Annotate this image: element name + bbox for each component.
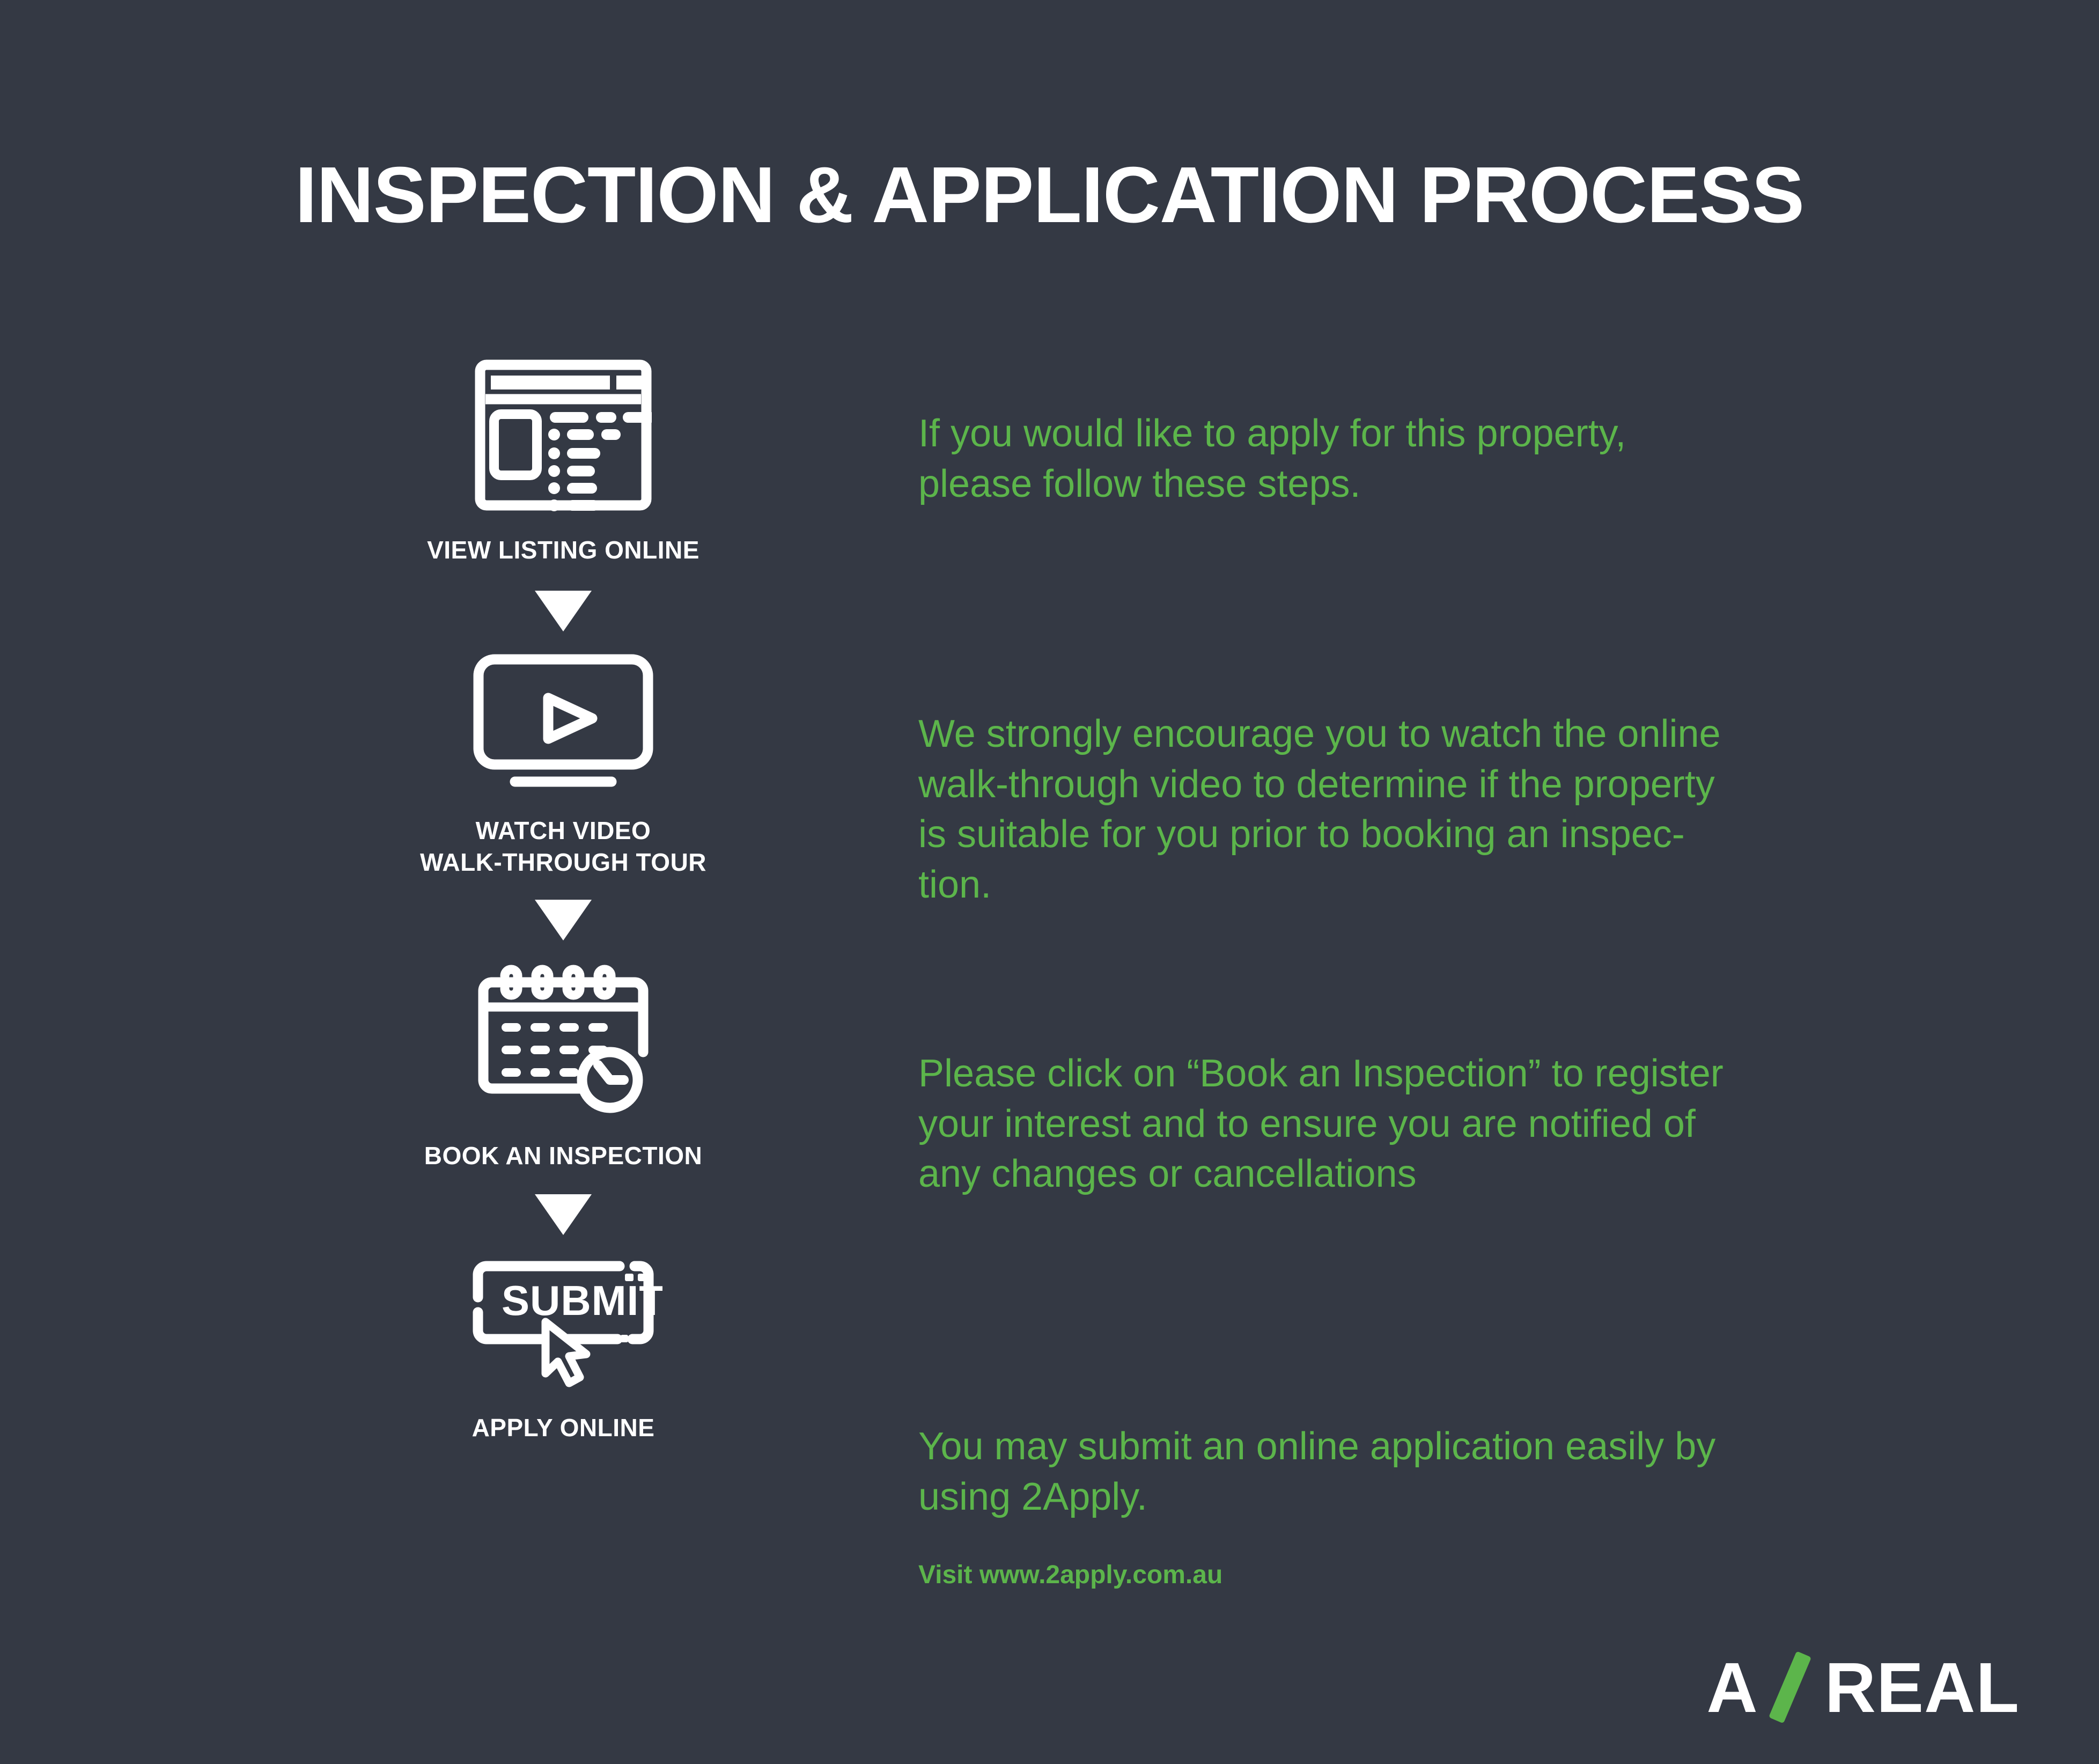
logo-letter-a: A bbox=[1706, 1652, 1758, 1723]
infographic-poster: INSPECTION & APPLICATION PROCESS bbox=[0, 0, 2099, 1764]
flow-step-label: BOOK AN INSPECTION bbox=[424, 1140, 702, 1172]
down-triangle-arrow-icon bbox=[535, 591, 592, 631]
paragraph-watch-video: We strongly encourage you to watch the o… bbox=[918, 709, 1900, 910]
flow-step-view-listing[interactable]: VIEW LISTING ONLINE bbox=[333, 359, 794, 566]
down-triangle-arrow-icon bbox=[535, 900, 592, 940]
submit-icon-text: SUBMIT bbox=[502, 1277, 662, 1324]
calendar-clock-icon bbox=[475, 960, 652, 1121]
logo-word-real: REAL bbox=[1825, 1652, 2020, 1723]
browser-listing-icon bbox=[475, 359, 652, 515]
flow-step-book-inspection[interactable]: BOOK AN INSPECTION bbox=[333, 960, 794, 1172]
video-play-monitor-icon bbox=[472, 653, 654, 796]
flow-step-label: VIEW LISTING ONLINE bbox=[427, 534, 699, 566]
down-triangle-arrow-icon bbox=[535, 1194, 592, 1235]
process-flow: VIEW LISTING ONLINE WATCH VIDEO WALK-THR… bbox=[333, 359, 794, 1443]
paragraph-view-listing: If you would like to apply for this prop… bbox=[918, 409, 1900, 509]
flow-step-apply-online[interactable]: SUBMIT APPLY ONLINE bbox=[333, 1259, 794, 1444]
brand-logo: A REAL bbox=[1706, 1650, 2020, 1725]
flow-step-label: WATCH VIDEO WALK-THROUGH TOUR bbox=[420, 815, 706, 878]
submit-button-cursor-icon: SUBMIT bbox=[464, 1259, 662, 1393]
green-slash-icon bbox=[1762, 1652, 1824, 1723]
visit-url-line[interactable]: Visit www.2apply.com.au bbox=[918, 1560, 1222, 1590]
flow-step-label: APPLY ONLINE bbox=[472, 1412, 655, 1444]
paragraph-apply-online: You may submit an online application eas… bbox=[918, 1422, 1900, 1522]
paragraph-book-inspection: Please click on “Book an Inspection” to … bbox=[918, 1049, 1900, 1200]
flow-step-watch-video[interactable]: WATCH VIDEO WALK-THROUGH TOUR bbox=[333, 653, 794, 878]
page-title: INSPECTION & APPLICATION PROCESS bbox=[0, 156, 2099, 235]
